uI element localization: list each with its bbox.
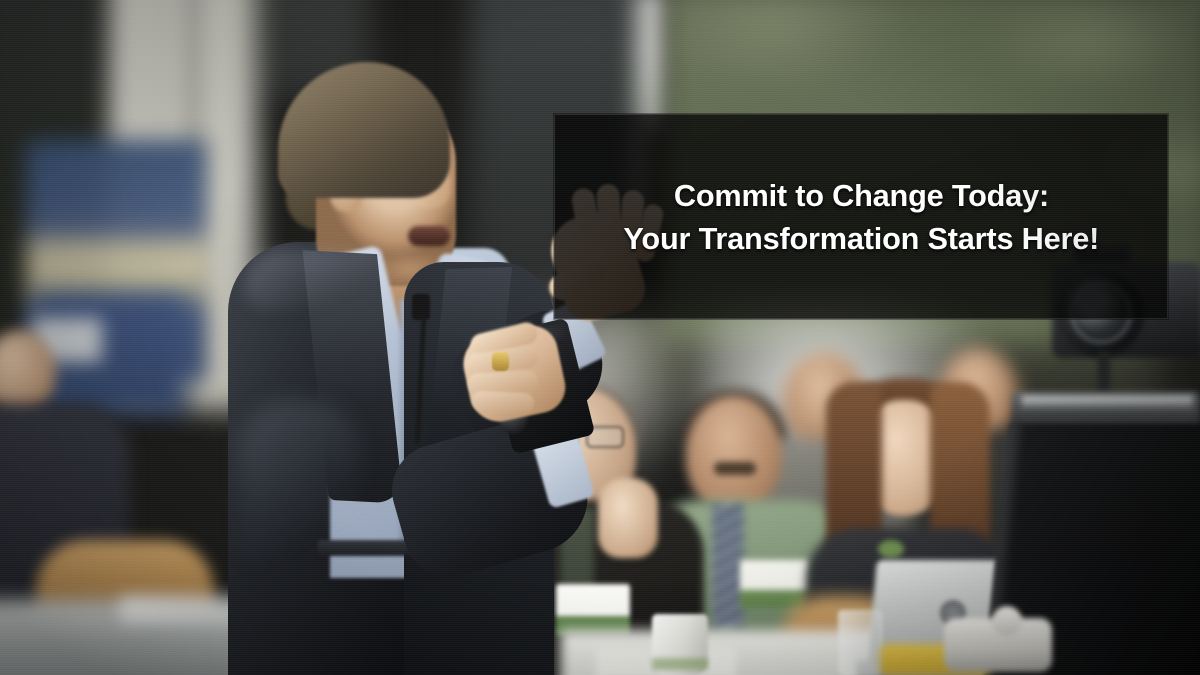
background-scene [0,0,1200,675]
banner-image: Commit to Change Today: Your Transformat… [0,0,1200,675]
headline-line-2: Your Transformation Starts Here! [623,217,1099,260]
audience-member-b-head [686,396,782,512]
audience-member-a-hand [598,478,658,558]
camera-mount-stalk [1098,352,1110,394]
speaker-shoulder-highlight [244,250,392,310]
audience-member-b-mustache [714,462,756,475]
headline-line-1: Commit to Change Today: [673,174,1048,217]
camera-plate-highlight [1022,396,1192,410]
speaker-mouth [408,226,450,246]
paper-cup-band [652,658,708,670]
audience-member-a-name-badge [556,584,630,636]
audience-member-b-name-badge [740,560,810,608]
audience-member-d-necklace [878,540,904,558]
tripod-clamp-knob [992,606,1022,636]
speaker-arm-highlight [240,400,360,590]
headline-overlay-panel: Commit to Change Today: Your Transformat… [554,114,1168,319]
lapel-microphone-icon [412,294,430,320]
water-glass [838,610,882,675]
speaker-lower-finger-4 [472,390,535,413]
speaker-ring [492,352,509,371]
